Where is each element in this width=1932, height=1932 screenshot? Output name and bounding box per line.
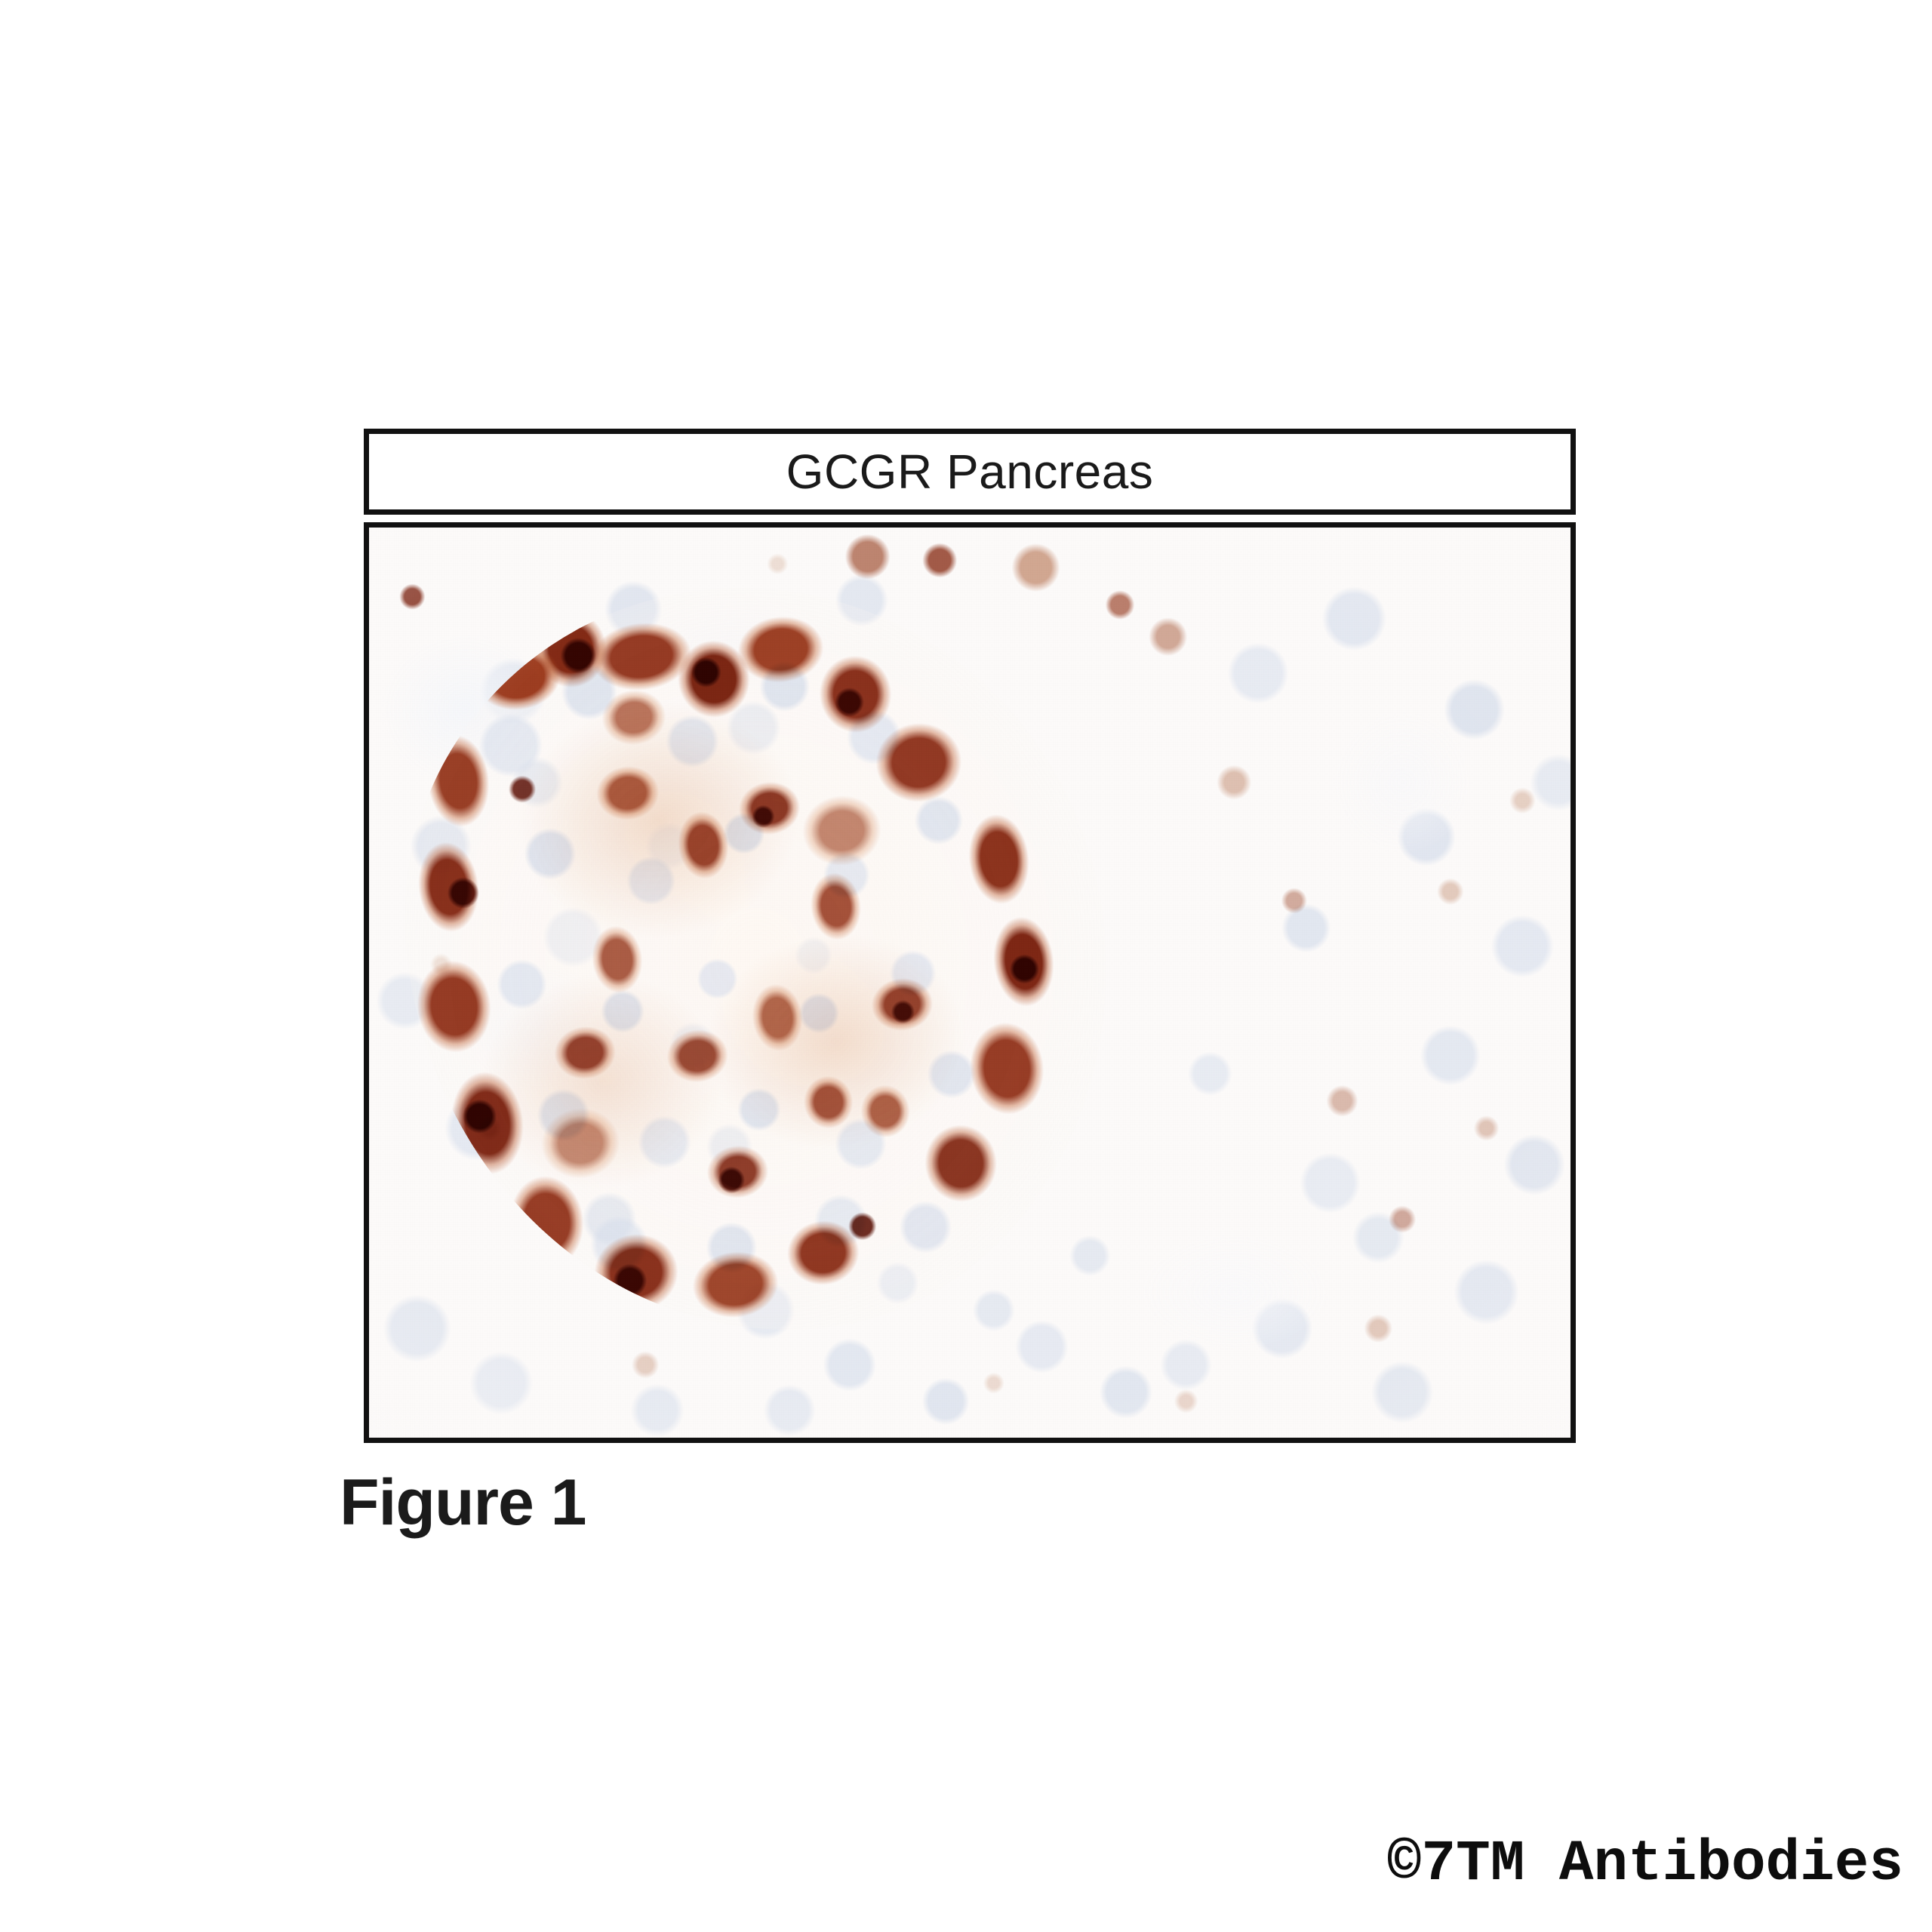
micrograph-image: [369, 528, 1571, 1438]
panel-title-box: GCGR Pancreas: [364, 429, 1576, 515]
copyright-notice: ©7TM Antibodies: [1387, 1835, 1903, 1893]
dab-dark-granules: [371, 552, 1143, 1367]
figure-block: GCGR Pancreas: [364, 429, 1576, 1443]
figure-caption: Figure 1: [340, 1470, 586, 1535]
panel-title-label: GCGR Pancreas: [786, 448, 1154, 496]
micrograph-frame: [364, 522, 1576, 1443]
pancreatic-islet: [371, 552, 1143, 1367]
